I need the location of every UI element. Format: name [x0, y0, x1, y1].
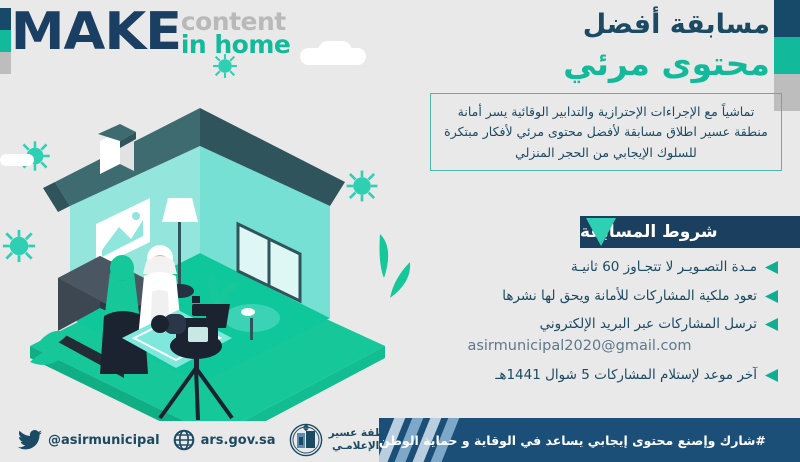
list-item: ترسل المشاركات عبر البريد الإلكتروني asi… [408, 315, 778, 357]
list-item-label: مـدة التصـويـر لا تتجـاوز 60 ثانيـة [408, 258, 757, 278]
house-scene-svg [0, 46, 420, 421]
intro-paragraph-box: تماشياً مع الإجراءات الإحترازية والتدابي… [430, 93, 782, 171]
list-item: آخر موعد لإستلام المشاركات 5 شوال 1441هـ [408, 366, 778, 386]
headline-line-2: محتوى مرئي [400, 43, 770, 84]
triangle-bullet-icon [765, 290, 778, 303]
website-url: ars.gov.sa [201, 433, 276, 448]
hashtag-text: #شارك وإصنع محتوى إيجابي يساعد في الوقاي… [379, 433, 766, 448]
twitter-contact[interactable]: @asirmunicipal [18, 430, 160, 450]
triangle-bullet-icon [765, 369, 778, 382]
triangle-bullet-icon [765, 318, 778, 331]
twitter-icon [18, 430, 42, 450]
accent-block-navy [0, 8, 11, 30]
list-item-label: آخر موعد لإستلام المشاركات 5 شوال 1441هـ [408, 366, 757, 386]
check-mark-icon [586, 218, 616, 246]
list-item-body: مـدة التصـويـر لا تتجـاوز 60 ثانيـة [408, 258, 757, 278]
list-item: مـدة التصـويـر لا تتجـاوز 60 ثانيـة [408, 258, 778, 278]
conditions-banner: شروط المسابقة [580, 216, 800, 248]
hashtag-banner: #شارك وإصنع محتوى إيجابي يساعد في الوقاي… [379, 418, 800, 462]
cloud-shape [0, 154, 34, 166]
list-item-body: آخر موعد لإستلام المشاركات 5 شوال 1441هـ [408, 366, 757, 386]
asir-municipality-seal-icon [289, 423, 323, 457]
house-illustration [0, 46, 420, 421]
list-item: تعود ملكية المشاركات للأمانة ويحق لها نش… [408, 287, 778, 307]
headline-line-1: مسابقة أفضل [400, 8, 770, 42]
conditions-list: مـدة التصـويـر لا تتجـاوز 60 ثانيـة تعود… [408, 258, 778, 395]
footer-contacts: @asirmunicipal ars.gov.sa [18, 418, 424, 462]
cloud-shape [318, 41, 352, 61]
headline-block: مسابقة أفضل محتوى مرئي [400, 0, 800, 84]
contact-email[interactable]: asirmunicipal2020@gmail.com [408, 336, 757, 358]
twitter-handle: @asirmunicipal [48, 433, 160, 448]
triangle-bullet-icon [765, 261, 778, 274]
list-item-body: تعود ملكية المشاركات للأمانة ويحق لها نش… [408, 287, 757, 307]
website-contact[interactable]: ars.gov.sa [173, 429, 276, 451]
list-item-label: ترسل المشاركات عبر البريد الإلكتروني [408, 315, 757, 335]
globe-icon [173, 429, 195, 451]
footer-bar: @asirmunicipal ars.gov.sa [0, 418, 800, 462]
list-item-label: تعود ملكية المشاركات للأمانة ويحق لها نش… [408, 287, 757, 307]
list-item-body: ترسل المشاركات عبر البريد الإلكتروني asi… [408, 315, 757, 357]
poster-canvas: MAKE content in home [0, 0, 800, 462]
